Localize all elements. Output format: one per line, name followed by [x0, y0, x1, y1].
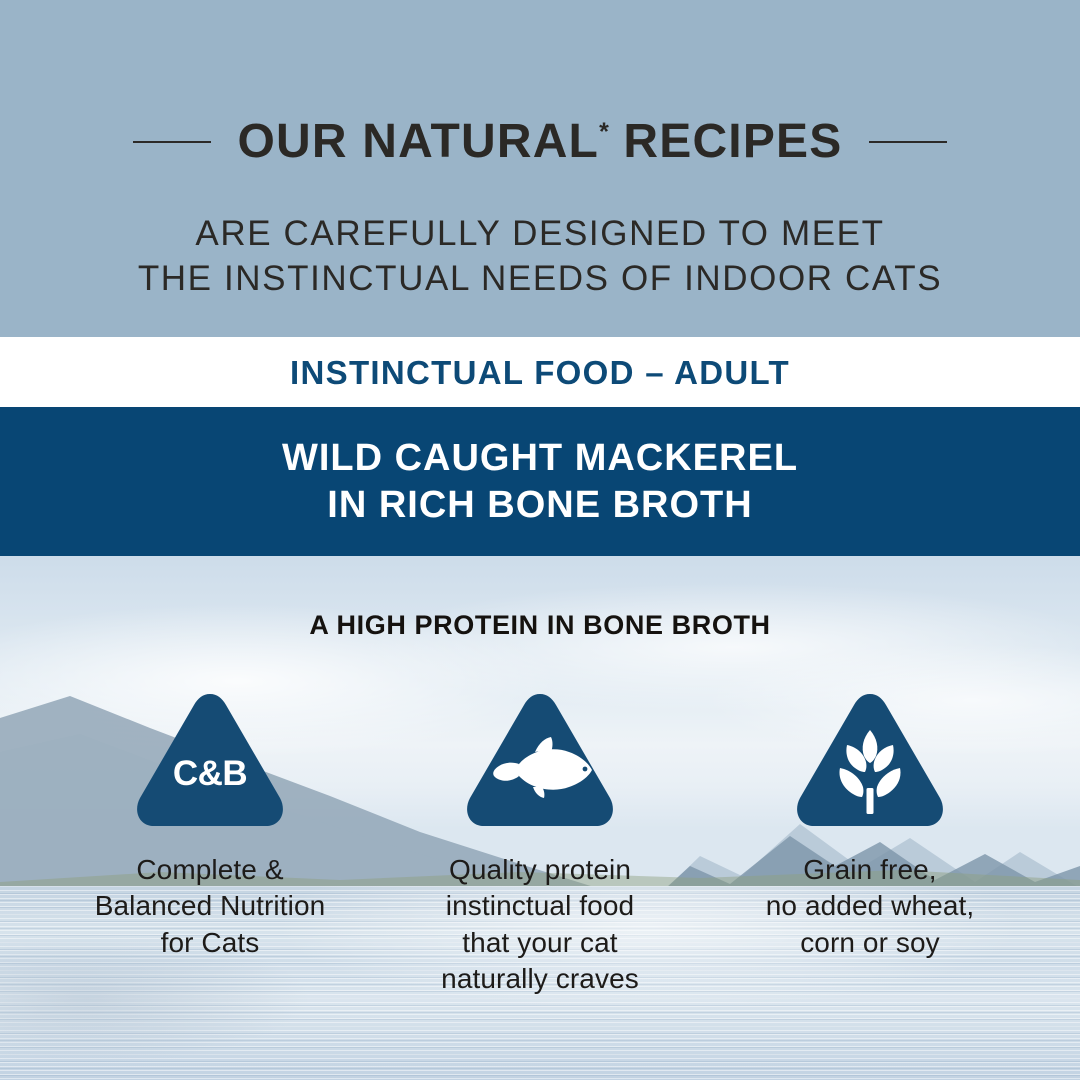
caption-line-4: naturally craves: [441, 961, 639, 997]
page-title: OUR NATURAL* RECIPES: [237, 118, 842, 166]
caption-line-3: that your cat: [441, 925, 639, 961]
protein-claim: A HIGH PROTEIN IN BONE BROTH: [0, 612, 1080, 639]
caption-line-3: corn or soy: [766, 925, 975, 961]
caption-line-1: Quality protein: [441, 852, 639, 888]
feature-item-grain-free: Grain free, no added wheat, corn or soy: [705, 690, 1035, 961]
headline-row: OUR NATURAL* RECIPES: [0, 118, 1080, 166]
caption-line-2: instinctual food: [441, 888, 639, 924]
caption-line-1: Grain free,: [766, 852, 975, 888]
feature-item-complete-balanced: C&B Complete & Balanced Nutrition for Ca…: [45, 690, 375, 961]
headline-main: OUR NATURAL: [237, 115, 599, 168]
decorative-rule-right: [869, 141, 947, 143]
fish-icon: [461, 690, 619, 830]
cb-badge-icon: C&B: [131, 690, 289, 830]
feature-caption: Quality protein instinctual food that yo…: [441, 852, 639, 998]
caption-line-3: for Cats: [95, 925, 326, 961]
subtitle-line-1: ARE CAREFULLY DESIGNED TO MEET: [0, 212, 1080, 257]
product-feature-graphic: OUR NATURAL* RECIPES ARE CAREFULLY DESIG…: [0, 0, 1080, 1080]
wheat-grain-icon: [791, 690, 949, 830]
decorative-rule-left: [133, 141, 211, 143]
caption-line-2: Balanced Nutrition: [95, 888, 326, 924]
asterisk-marker: *: [599, 118, 609, 146]
caption-line-2: no added wheat,: [766, 888, 975, 924]
variant-name: WILD CAUGHT MACKEREL IN RICH BONE BROTH: [282, 435, 798, 528]
cb-badge-text: C&B: [173, 754, 247, 793]
feature-caption: Complete & Balanced Nutrition for Cats: [95, 852, 326, 961]
feature-list: C&B Complete & Balanced Nutrition for Ca…: [0, 690, 1080, 998]
header-band: OUR NATURAL* RECIPES ARE CAREFULLY DESIG…: [0, 0, 1080, 337]
feature-item-quality-protein: Quality protein instinctual food that yo…: [375, 690, 705, 998]
variant-line-1: WILD CAUGHT MACKEREL: [282, 435, 798, 481]
range-band: INSTINCTUAL FOOD – ADULT: [0, 337, 1080, 407]
caption-line-1: Complete &: [95, 852, 326, 888]
range-name: INSTINCTUAL FOOD – ADULT: [290, 356, 790, 389]
header-subtitle: ARE CAREFULLY DESIGNED TO MEET THE INSTI…: [0, 212, 1080, 302]
headline-suffix: RECIPES: [623, 115, 842, 168]
variant-line-2: IN RICH BONE BROTH: [282, 482, 798, 528]
feature-caption: Grain free, no added wheat, corn or soy: [766, 852, 975, 961]
subtitle-line-2: THE INSTINCTUAL NEEDS OF INDOOR CATS: [0, 257, 1080, 302]
variant-band: WILD CAUGHT MACKEREL IN RICH BONE BROTH: [0, 407, 1080, 556]
